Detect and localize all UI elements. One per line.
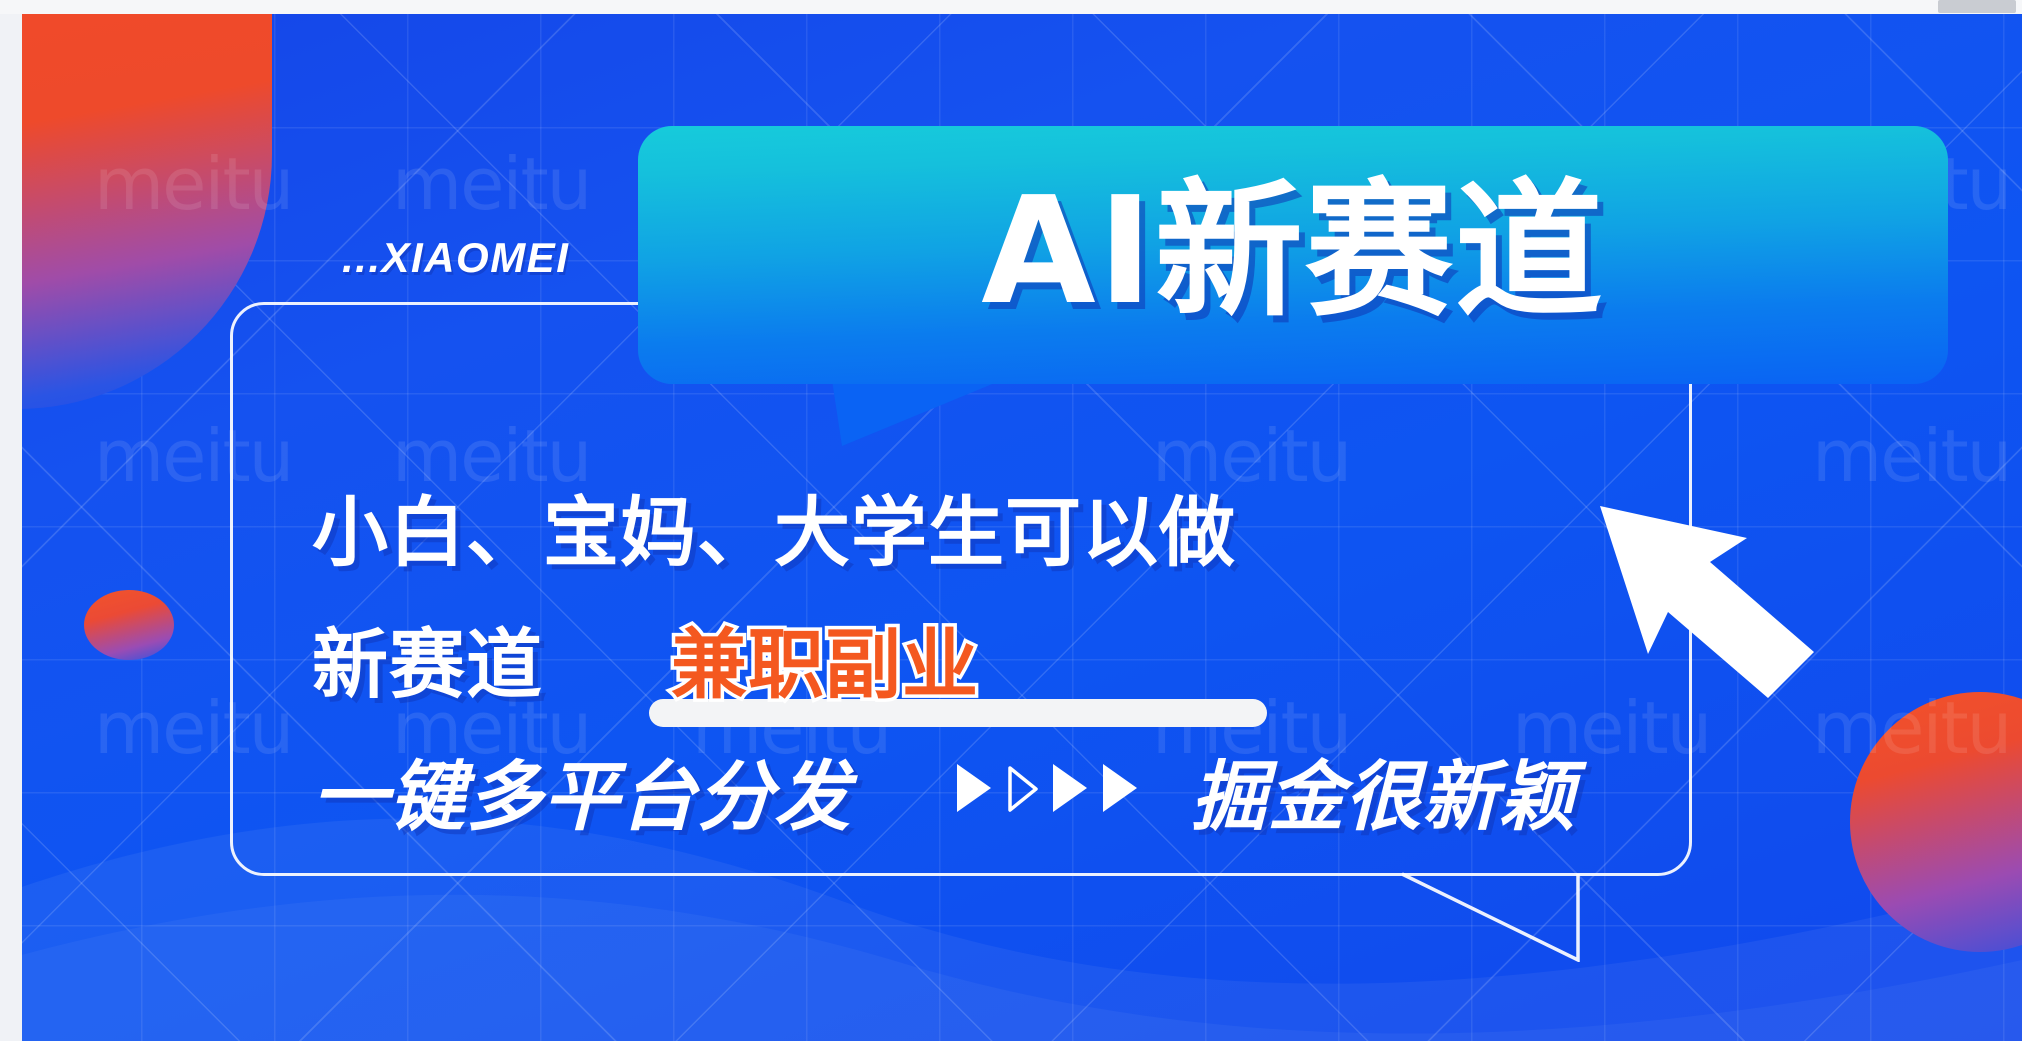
play-triangle-filled-icon	[1053, 764, 1087, 812]
body-line-3-left: 一键多平台分发	[312, 735, 851, 845]
watermark-text: meitu	[392, 142, 590, 226]
arrow-triangle-group	[957, 764, 1137, 812]
play-triangle-filled-icon	[1103, 764, 1137, 812]
brand-tag: ...XIAOMEI	[342, 234, 569, 282]
body-line-3-right: 掘金很新颖	[1191, 735, 1576, 845]
body-line-2-left: 新赛道	[312, 603, 543, 713]
window-chrome-chip	[1938, 0, 2016, 13]
content-outline-box-tail	[1402, 872, 1622, 962]
body-line-2: 新赛道 兼职副业	[312, 592, 1672, 724]
poster-canvas: meitu meitu meitu meitu meitu meitu meit…	[0, 0, 2022, 1041]
body-line-2-highlight: 兼职副业	[671, 620, 979, 709]
decor-blob-small-left	[84, 590, 174, 660]
canvas-top-margin	[0, 0, 2022, 14]
watermark-text: meitu	[94, 142, 292, 226]
body-line-1: 小白、宝妈、大学生可以做	[312, 460, 1672, 592]
body-line-3: 一键多平台分发 掘金很新颖	[312, 724, 1672, 856]
banner-title-text: AI新赛道	[638, 126, 1948, 384]
title-banner: AI新赛道	[638, 126, 1948, 384]
play-triangle-outline-icon	[1007, 765, 1037, 811]
mouse-cursor-arrow-icon	[1582, 466, 1852, 716]
body-copy: 小白、宝妈、大学生可以做 新赛道 兼职副业 一键多平台分发	[312, 460, 1672, 856]
body-line-1-text: 小白、宝妈、大学生可以做	[312, 471, 1236, 581]
play-triangle-filled-icon	[957, 764, 991, 812]
canvas-left-margin	[0, 14, 22, 1041]
poster-board: meitu meitu meitu meitu meitu meitu meit…	[22, 14, 2022, 1041]
highlight-group: 兼职副业	[671, 603, 979, 713]
banner-speech-tail	[832, 380, 1002, 450]
